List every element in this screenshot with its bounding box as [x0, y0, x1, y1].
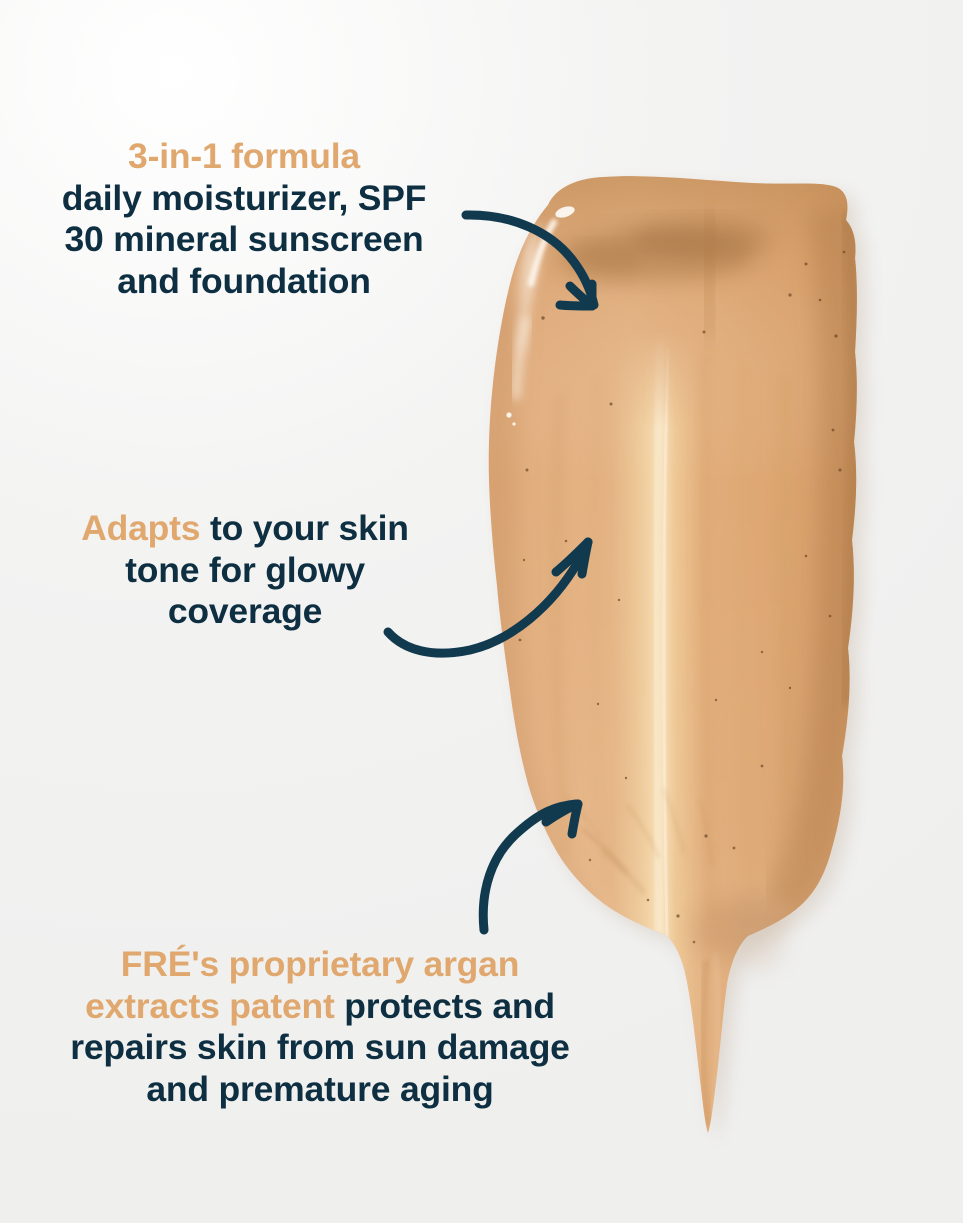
callout-3-line-2-rest: protects and: [335, 986, 555, 1026]
callout-3-line-3: repairs skin from sun damage: [6, 1027, 634, 1069]
arrow-top-icon: [466, 215, 594, 306]
callout-2-line-3: coverage: [30, 591, 460, 633]
arrow-bottom-icon: [483, 804, 578, 930]
callout-2-line-2: tone for glowy: [30, 550, 460, 592]
callout-1-line-1: daily moisturizer, SPF: [14, 178, 474, 220]
callout-3-line-2: extracts patent protects and: [6, 986, 634, 1028]
callout-3-highlight-2: extracts patent: [85, 986, 335, 1026]
benefit-argan-extracts-patent: FRÉ's proprietary argan extracts patent …: [6, 944, 634, 1110]
callout-1-line-2: 30 mineral sunscreen: [14, 219, 474, 261]
benefit-3-in-1-formula: 3-in-1 formula daily moisturizer, SPF 30…: [14, 136, 474, 302]
callout-2-line-1: Adapts to your skin: [30, 508, 460, 550]
callout-3-highlight-1: FRÉ's proprietary argan: [6, 944, 634, 986]
callout-1-line-3: and foundation: [14, 261, 474, 303]
callout-2-highlight: Adapts: [81, 508, 200, 548]
callout-3-line-4: and premature aging: [6, 1069, 634, 1111]
infographic-canvas: 3-in-1 formula daily moisturizer, SPF 30…: [0, 0, 963, 1223]
callout-1-highlight: 3-in-1 formula: [14, 136, 474, 178]
benefit-adapts-to-skin-tone: Adapts to your skin tone for glowy cover…: [30, 508, 460, 633]
callout-2-line-1-rest: to your skin: [200, 508, 408, 548]
